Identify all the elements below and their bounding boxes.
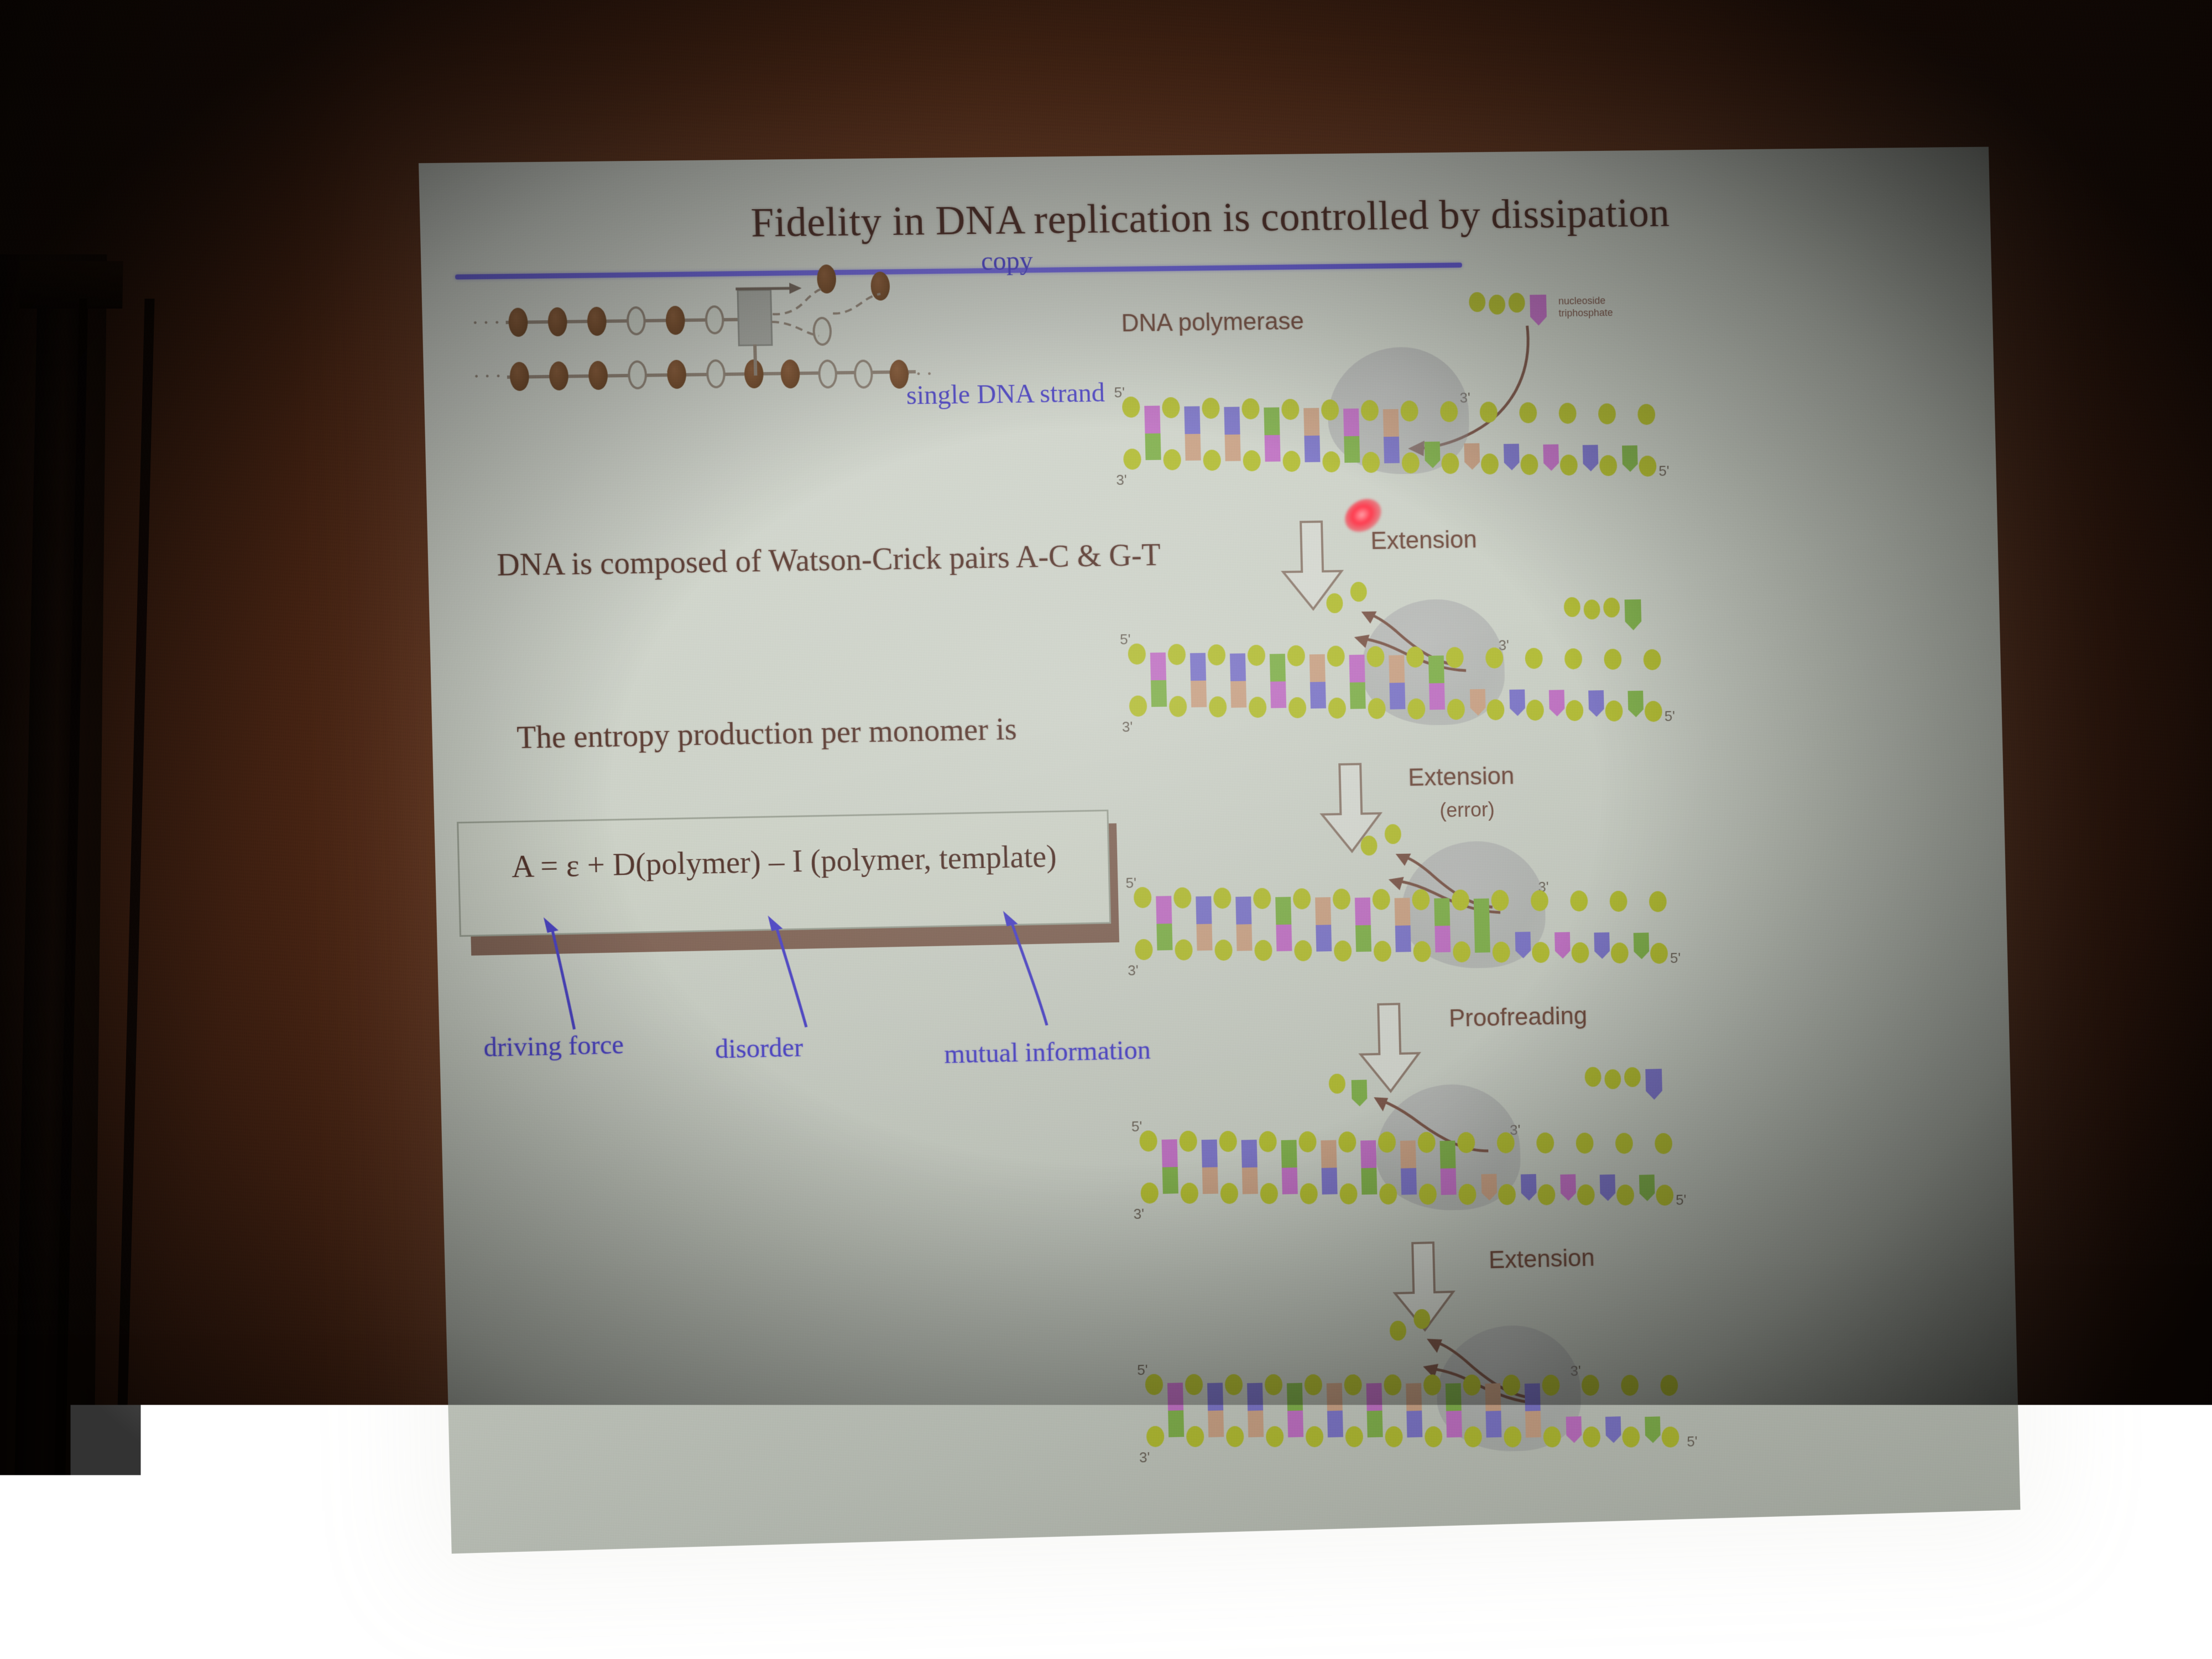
- step-sublabel-error: (error): [1439, 798, 1495, 822]
- dna-duplex-row-2: [1118, 631, 1714, 746]
- step-label-extension-2: Extension: [1488, 1244, 1595, 1274]
- free-nucleotide-group-3: [1584, 1063, 1683, 1112]
- monomer-bead: [706, 359, 726, 389]
- monomer-bead: [588, 361, 608, 390]
- monomer-bead: [628, 360, 648, 389]
- photo-scene: Fidelity in DNA replication is controlle…: [0, 0, 2212, 1659]
- callout-arrow-driving-force: [537, 914, 590, 1032]
- monomer-reject-arrow: [769, 314, 832, 348]
- door-rail: [19, 261, 123, 309]
- step-label-extension-error: Extension: [1408, 763, 1515, 792]
- monomer-bead: [705, 305, 724, 335]
- watson-crick-line: DNA is composed of Watson-Crick pairs A-…: [497, 538, 1161, 583]
- monomer-attach-arrow-2: [830, 289, 893, 329]
- monomer-bead: [780, 359, 800, 389]
- monomer-bead: [854, 359, 874, 389]
- equation-text: A = ε + D(polymer) – I (polymer, templat…: [459, 838, 1108, 886]
- dna-polymerase-label: DNA polymerase: [1121, 307, 1304, 337]
- callout-label-mutual-information: mutual information: [944, 1035, 1151, 1070]
- dna-duplex-row-3: [1124, 873, 1720, 990]
- annotation-copy: copy: [980, 246, 1033, 276]
- monomer-bead: [626, 306, 646, 336]
- dna-duplex-row-4: [1129, 1115, 1725, 1234]
- monomer-bead: [665, 306, 685, 335]
- monomer-bead: [667, 360, 687, 389]
- monomer-bead: [508, 307, 528, 337]
- monomer-bead: [547, 307, 567, 336]
- callout-arrow-disorder: [762, 912, 826, 1030]
- callout-label-disorder: disorder: [714, 1032, 803, 1065]
- monomer-bead: [587, 307, 607, 336]
- dna-duplex-row-5: [1135, 1357, 1731, 1477]
- step-label-extension-1: Extension: [1370, 526, 1477, 555]
- callout-label-driving-force: driving force: [483, 1029, 624, 1063]
- dna-replication-figure: DNA polymerase nucleoside triphosphate: [1100, 147, 2021, 1535]
- entropy-line: The entropy production per monomer is: [517, 712, 1018, 756]
- copier-stem: [753, 345, 757, 375]
- step-label-proofreading: Proofreading: [1449, 1002, 1588, 1032]
- monomer-bead: [509, 362, 529, 391]
- callout-arrow-mutual-information: [997, 907, 1066, 1028]
- projected-slide: Fidelity in DNA replication is controlle…: [419, 147, 2021, 1553]
- monomer-bead: [818, 359, 838, 389]
- monomer-bead: [549, 361, 569, 390]
- ellipsis-left-top: ···: [471, 309, 504, 335]
- dna-duplex-row-1: [1112, 386, 1709, 499]
- ellipsis-left-bottom: ···: [472, 362, 505, 389]
- annotation-single-dna-strand: single DNA strand: [906, 378, 1105, 411]
